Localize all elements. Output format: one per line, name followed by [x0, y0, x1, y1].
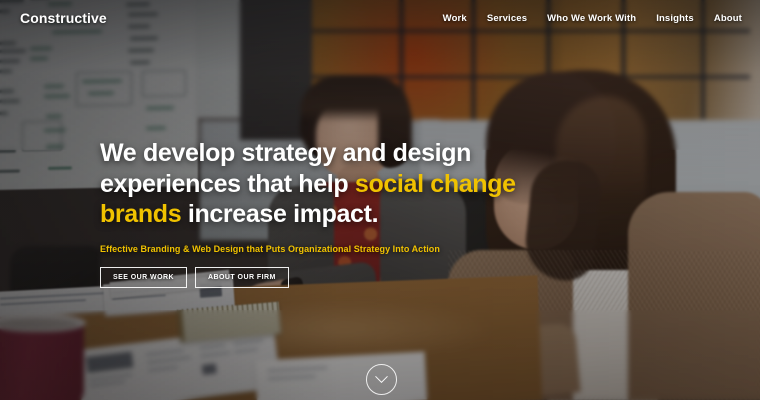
nav-item-work[interactable]: Work [443, 13, 467, 24]
see-our-work-button[interactable]: SEE OUR WORK [100, 267, 187, 288]
headline-text-part2: increase impact. [181, 200, 378, 228]
hero-content: We develop strategy and design experienc… [100, 138, 570, 288]
nav-item-services[interactable]: Services [487, 13, 527, 24]
nav-item-insights[interactable]: Insights [656, 13, 694, 24]
hero-subheadline: Effective Branding & Web Design that Put… [100, 244, 570, 254]
hero-headline: We develop strategy and design experienc… [100, 138, 570, 230]
hero-cta-row: SEE OUR WORK ABOUT OUR FIRM [100, 267, 570, 288]
scroll-down-button[interactable] [366, 364, 397, 395]
hero-section: Constructive Work Services Who We Work W… [0, 0, 760, 400]
main-navigation: Work Services Who We Work With Insights … [443, 13, 742, 24]
site-header: Constructive Work Services Who We Work W… [0, 0, 760, 36]
nav-item-about[interactable]: About [714, 13, 742, 24]
nav-item-who-we-work-with[interactable]: Who We Work With [547, 13, 636, 24]
chevron-down-icon [375, 370, 388, 383]
site-logo[interactable]: Constructive [20, 10, 107, 26]
about-our-firm-button[interactable]: ABOUT OUR FIRM [195, 267, 289, 288]
